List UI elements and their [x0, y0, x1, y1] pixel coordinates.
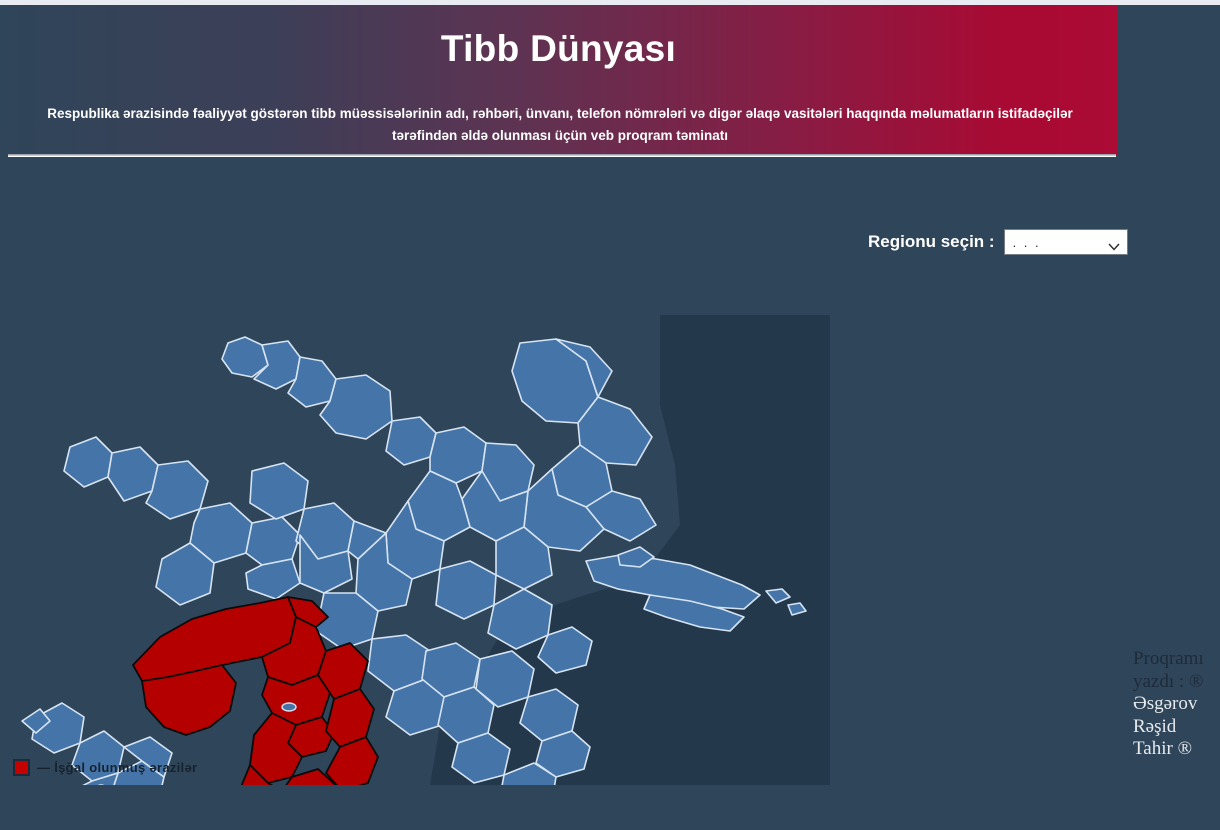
credits-block: Proqramı yazdı : ® Əsgərov Rəşid Tahir ® [1133, 648, 1220, 761]
header-divider [8, 154, 1116, 157]
map-svg[interactable] [0, 165, 830, 785]
region-qazakh [64, 437, 112, 487]
region-ganja [246, 517, 300, 565]
map-legend: — İşğal olunmuş ərazilər [13, 759, 197, 776]
azerbaijan-map[interactable] [0, 165, 830, 785]
legend-label: — İşğal olunmuş ərazilər [37, 760, 197, 775]
region-oguz [386, 417, 436, 465]
credits-line-1: Proqramı [1133, 648, 1220, 671]
region-select-value: . . . [1005, 235, 1041, 250]
chevron-down-icon [1108, 238, 1120, 246]
page-title: Tibb Dünyası [0, 27, 1117, 71]
occupied-fuzuli [326, 737, 378, 785]
region-goygol [246, 559, 300, 599]
legend-color-swatch [13, 759, 30, 776]
header-banner: Tibb Dünyası Respublika ərazisində fəali… [0, 5, 1117, 155]
lake-mingachevir [282, 703, 296, 711]
page-subtitle: Respublika ərazisində fəaliyyət göstərən… [30, 103, 1090, 147]
region-selector: Regionu seçin : . . . [868, 229, 1128, 255]
credits-line-4: Rəşid [1133, 716, 1220, 739]
credits-line-2: yazdı : ® [1133, 671, 1220, 694]
credits-line-3: Əsgərov [1133, 693, 1220, 716]
region-kurdamir [436, 561, 496, 619]
region-select[interactable]: . . . [1004, 229, 1128, 255]
region-samukh [250, 463, 308, 519]
region-select-label: Regionu seçin : [868, 232, 995, 252]
credits-line-5: Tahir ® [1133, 738, 1220, 761]
